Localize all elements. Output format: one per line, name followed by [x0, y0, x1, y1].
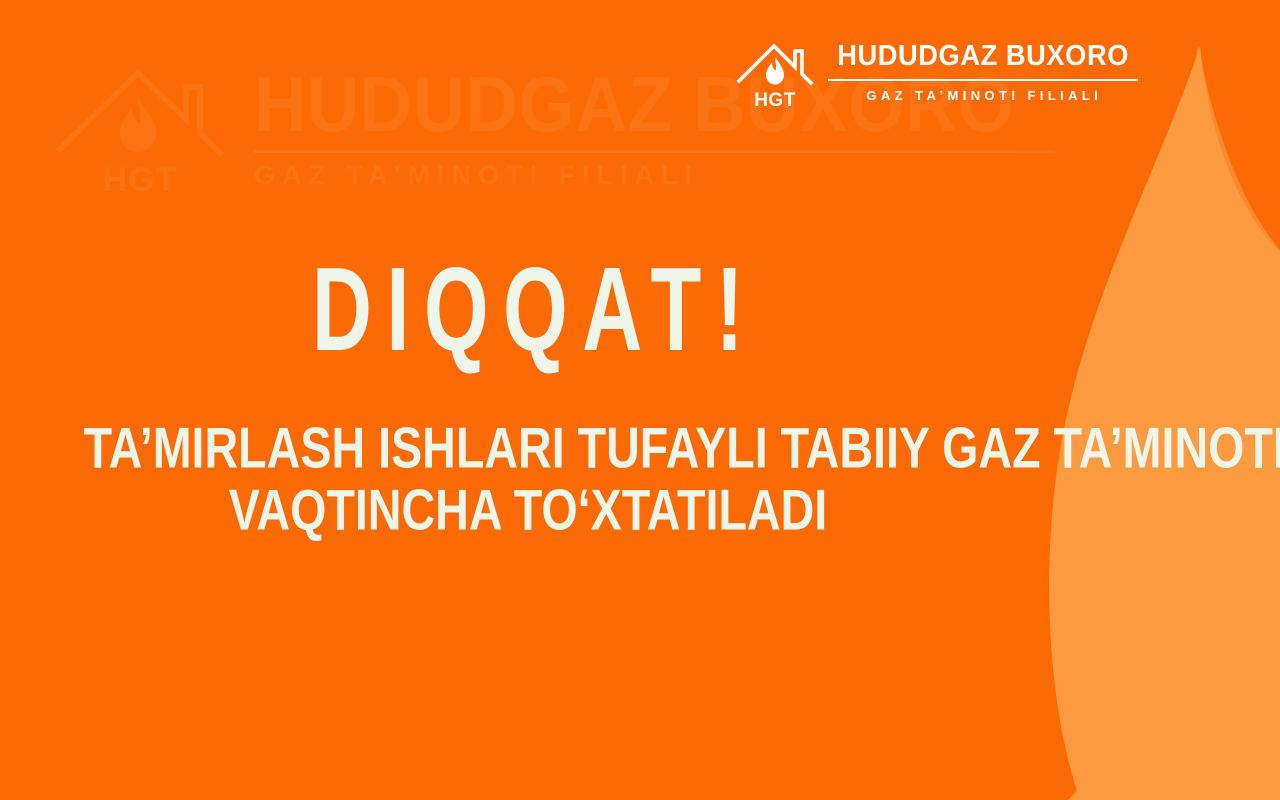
- svg-text:HGT: HGT: [754, 90, 796, 110]
- announcement-headline: DIQQAT!: [297, 251, 757, 370]
- announcement-body-line-1: TA’MIRLASH ISHLARI TUFAYLI TABIIY GAZ TA…: [83, 416, 972, 483]
- house-flame-logo-icon: HGT: [736, 34, 814, 110]
- brand-divider: [828, 79, 1138, 81]
- brand-title: HUDUDGAZ BUXORO: [837, 41, 1129, 71]
- announcement-poster: HGT HUDUDGAZ BUXORO GAZ TA’MINOTI FILIAL…: [0, 0, 1280, 800]
- announcement-body: TA’MIRLASH ISHLARI TUFAYLI TABIIY GAZ TA…: [23, 418, 1033, 542]
- announcement-content: DIQQAT! TA’MIRLASH ISHLARI TUFAYLI TABII…: [0, 0, 1055, 800]
- brand-subtitle: GAZ TA’MINOTI FILIALI: [828, 88, 1138, 103]
- brand-lockup: HGT HUDUDGAZ BUXORO GAZ TA’MINOTI FILIAL…: [736, 34, 1138, 110]
- announcement-body-line-2: VAQTINCHA TO‘XTATILADI: [83, 478, 972, 545]
